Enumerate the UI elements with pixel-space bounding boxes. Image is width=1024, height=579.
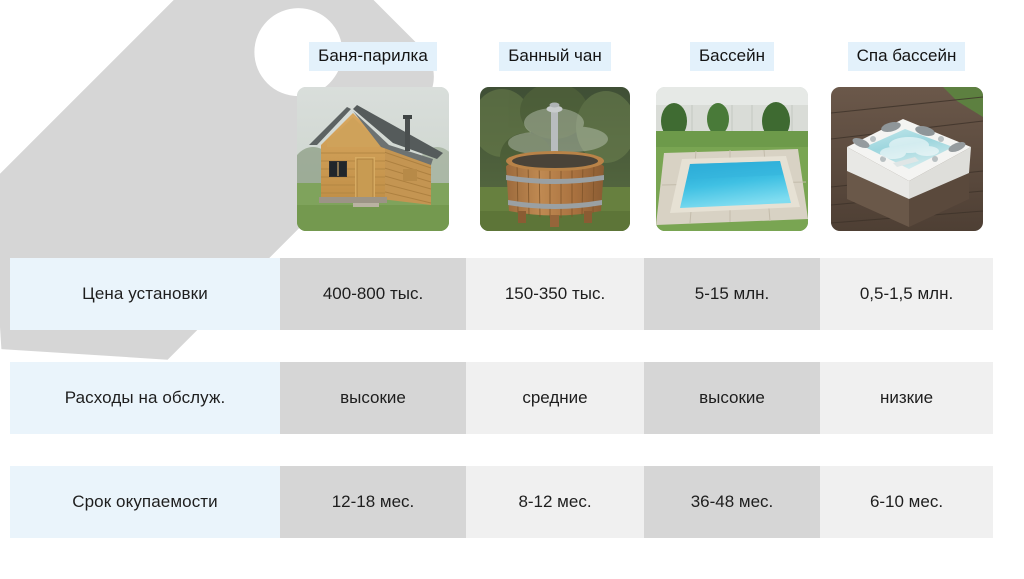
table-cell: 5-15 млн. — [644, 258, 820, 330]
table-cell: высокие — [644, 362, 820, 434]
table-row: Срок окупаемости 12-18 мес. 8-12 мес. 36… — [0, 466, 1024, 538]
table-cell: 0,5-1,5 млн. — [820, 258, 993, 330]
table-cell: 8-12 мес. — [466, 466, 644, 538]
header-column-sauna: Баня-парилка — [280, 0, 466, 245]
row-label-cell: Расходы на обслуж. — [0, 362, 280, 434]
table-header-row: Баня-парилка — [0, 0, 1024, 245]
header-column-hot-tub: Банный чан — [466, 0, 644, 245]
table-cell: низкие — [820, 362, 993, 434]
comparison-table-page: Цена установки 400-800 тыс. 150-350 тыс.… — [0, 0, 1024, 579]
header-corner-spacer — [0, 0, 280, 245]
row-label-cell: Цена установки — [0, 258, 280, 330]
row-label: Расходы на обслуж. — [10, 362, 280, 434]
column-title: Банный чан — [499, 42, 611, 71]
table-row: Цена установки 400-800 тыс. 150-350 тыс.… — [0, 258, 1024, 330]
table-cell: 150-350 тыс. — [466, 258, 644, 330]
header-column-spa: Спа бассейн — [820, 0, 993, 245]
table-cell: 400-800 тыс. — [280, 258, 466, 330]
header-columns: Баня-парилка — [280, 0, 1024, 245]
row-values: 400-800 тыс. 150-350 тыс. 5-15 млн. 0,5-… — [280, 258, 1024, 330]
swimming-pool-image — [656, 87, 808, 231]
row-label: Цена установки — [10, 258, 280, 330]
table-cell: 6-10 мес. — [820, 466, 993, 538]
table-cell: 36-48 мес. — [644, 466, 820, 538]
table-cell: высокие — [280, 362, 466, 434]
wooden-hot-tub-image — [480, 87, 630, 231]
header-column-pool: Бассейн — [644, 0, 820, 245]
row-values: 12-18 мес. 8-12 мес. 36-48 мес. 6-10 мес… — [280, 466, 1024, 538]
row-label: Срок окупаемости — [10, 466, 280, 538]
row-label-cell: Срок окупаемости — [0, 466, 280, 538]
column-title: Спа бассейн — [848, 42, 966, 71]
row-values: высокие средние высокие низкие — [280, 362, 1024, 434]
spa-jacuzzi-image — [831, 87, 983, 231]
column-title: Бассейн — [690, 42, 774, 71]
log-sauna-cabin-image — [297, 87, 449, 231]
table-cell: средние — [466, 362, 644, 434]
table-row: Расходы на обслуж. высокие средние высок… — [0, 362, 1024, 434]
column-title: Баня-парилка — [309, 42, 437, 71]
table-cell: 12-18 мес. — [280, 466, 466, 538]
